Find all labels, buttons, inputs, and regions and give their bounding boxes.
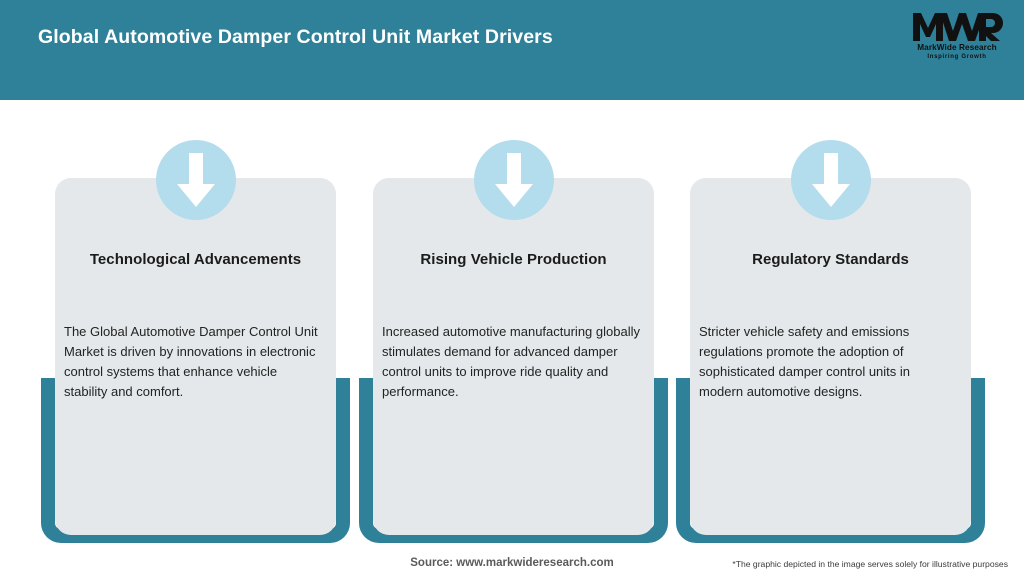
down-arrow-icon	[791, 140, 871, 220]
driver-card[interactable]: Technological Advancements The Global Au…	[55, 100, 336, 576]
brand-tagline: Inspiring Growth	[909, 54, 1005, 60]
brand-logo: MarkWide Research Inspiring Growth	[909, 12, 1005, 60]
card-description: The Global Automotive Damper Control Uni…	[64, 322, 322, 402]
mwr-monogram-icon	[909, 12, 1005, 42]
down-arrow-icon	[156, 140, 236, 220]
driver-card[interactable]: Regulatory Standards Stricter vehicle sa…	[690, 100, 971, 576]
page-title: Global Automotive Damper Control Unit Ma…	[38, 26, 553, 49]
page-header: Global Automotive Damper Control Unit Ma…	[0, 0, 1024, 100]
disclaimer-label: *The graphic depicted in the image serve…	[732, 559, 1008, 569]
down-arrow-icon	[474, 140, 554, 220]
card-title: Rising Vehicle Production	[373, 251, 654, 268]
card-description: Increased automotive manufacturing globa…	[382, 322, 640, 402]
card-title: Technological Advancements	[55, 251, 336, 268]
driver-card[interactable]: Rising Vehicle Production Increased auto…	[373, 100, 654, 576]
drivers-card-row: Technological Advancements The Global Au…	[0, 100, 1024, 576]
card-title: Regulatory Standards	[690, 251, 971, 268]
brand-name: MarkWide Research	[909, 44, 1005, 52]
card-description: Stricter vehicle safety and emissions re…	[699, 322, 957, 402]
